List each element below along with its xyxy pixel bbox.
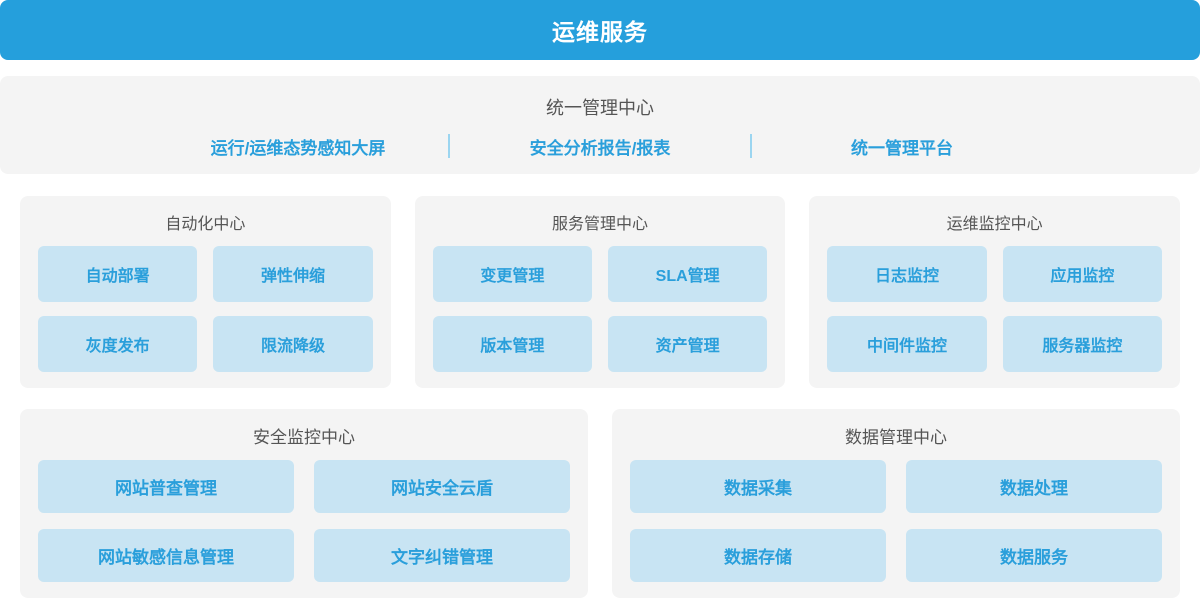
umc-link-management-platform[interactable]: 统一管理平台 <box>752 134 1052 159</box>
unified-management-center-band: 统一管理中心 运行/运维态势感知大屏 安全分析报告/报表 统一管理平台 <box>0 76 1200 174</box>
tile-website-security-cloud-shield[interactable]: 网站安全云盾 <box>314 460 570 513</box>
panel-ops-monitoring-center: 运维监控中心 日志监控 应用监控 中间件监控 服务器监控 <box>809 196 1180 388</box>
tile-grid: 自动部署 弹性伸缩 灰度发布 限流降级 <box>38 246 373 372</box>
panel-row-middle: 自动化中心 自动部署 弹性伸缩 灰度发布 限流降级 服务管理中心 变更管理 SL… <box>20 196 1180 388</box>
tile-text-correction-management[interactable]: 文字纠错管理 <box>314 529 570 582</box>
tile-grid: 数据采集 数据处理 数据存储 数据服务 <box>630 460 1162 582</box>
tile-application-monitoring[interactable]: 应用监控 <box>1003 246 1162 302</box>
tile-data-collection[interactable]: 数据采集 <box>630 460 886 513</box>
tile-grid: 日志监控 应用监控 中间件监控 服务器监控 <box>827 246 1162 372</box>
tile-middleware-monitoring[interactable]: 中间件监控 <box>827 316 986 372</box>
page-title: 运维服务 <box>552 13 648 47</box>
panel-automation-center: 自动化中心 自动部署 弹性伸缩 灰度发布 限流降级 <box>20 196 391 388</box>
tile-asset-management[interactable]: 资产管理 <box>608 316 767 372</box>
tile-change-management[interactable]: 变更管理 <box>433 246 592 302</box>
tile-rate-limit-degrade[interactable]: 限流降级 <box>213 316 372 372</box>
tile-data-service[interactable]: 数据服务 <box>906 529 1162 582</box>
header-bar: 运维服务 <box>0 0 1200 60</box>
tile-elastic-scaling[interactable]: 弹性伸缩 <box>213 246 372 302</box>
unified-management-center-title: 统一管理中心 <box>546 94 654 120</box>
tile-gray-release[interactable]: 灰度发布 <box>38 316 197 372</box>
panel-title: 运维监控中心 <box>947 210 1043 234</box>
panel-title: 数据管理中心 <box>845 423 947 448</box>
tile-data-processing[interactable]: 数据处理 <box>906 460 1162 513</box>
tile-website-sensitive-info-management[interactable]: 网站敏感信息管理 <box>38 529 294 582</box>
tile-version-management[interactable]: 版本管理 <box>433 316 592 372</box>
panel-service-management-center: 服务管理中心 变更管理 SLA管理 版本管理 资产管理 <box>415 196 786 388</box>
panel-title: 服务管理中心 <box>552 210 648 234</box>
panel-title: 安全监控中心 <box>253 423 355 448</box>
tile-sla-management[interactable]: SLA管理 <box>608 246 767 302</box>
panel-security-monitoring-center: 安全监控中心 网站普查管理 网站安全云盾 网站敏感信息管理 文字纠错管理 <box>20 409 588 598</box>
umc-link-security-report[interactable]: 安全分析报告/报表 <box>450 134 750 159</box>
unified-management-center-links: 运行/运维态势感知大屏 安全分析报告/报表 统一管理平台 <box>0 134 1200 159</box>
tile-grid: 变更管理 SLA管理 版本管理 资产管理 <box>433 246 768 372</box>
tile-grid: 网站普查管理 网站安全云盾 网站敏感信息管理 文字纠错管理 <box>38 460 570 582</box>
umc-link-dashboard[interactable]: 运行/运维态势感知大屏 <box>148 134 448 159</box>
tile-auto-deploy[interactable]: 自动部署 <box>38 246 197 302</box>
tile-server-monitoring[interactable]: 服务器监控 <box>1003 316 1162 372</box>
ops-service-architecture-diagram: 运维服务 统一管理中心 运行/运维态势感知大屏 安全分析报告/报表 统一管理平台… <box>0 0 1200 602</box>
tile-website-census-management[interactable]: 网站普查管理 <box>38 460 294 513</box>
panel-title: 自动化中心 <box>165 210 245 234</box>
panel-data-management-center: 数据管理中心 数据采集 数据处理 数据存储 数据服务 <box>612 409 1180 598</box>
tile-data-storage[interactable]: 数据存储 <box>630 529 886 582</box>
tile-log-monitoring[interactable]: 日志监控 <box>827 246 986 302</box>
panel-row-bottom: 安全监控中心 网站普查管理 网站安全云盾 网站敏感信息管理 文字纠错管理 数据管… <box>20 409 1180 598</box>
